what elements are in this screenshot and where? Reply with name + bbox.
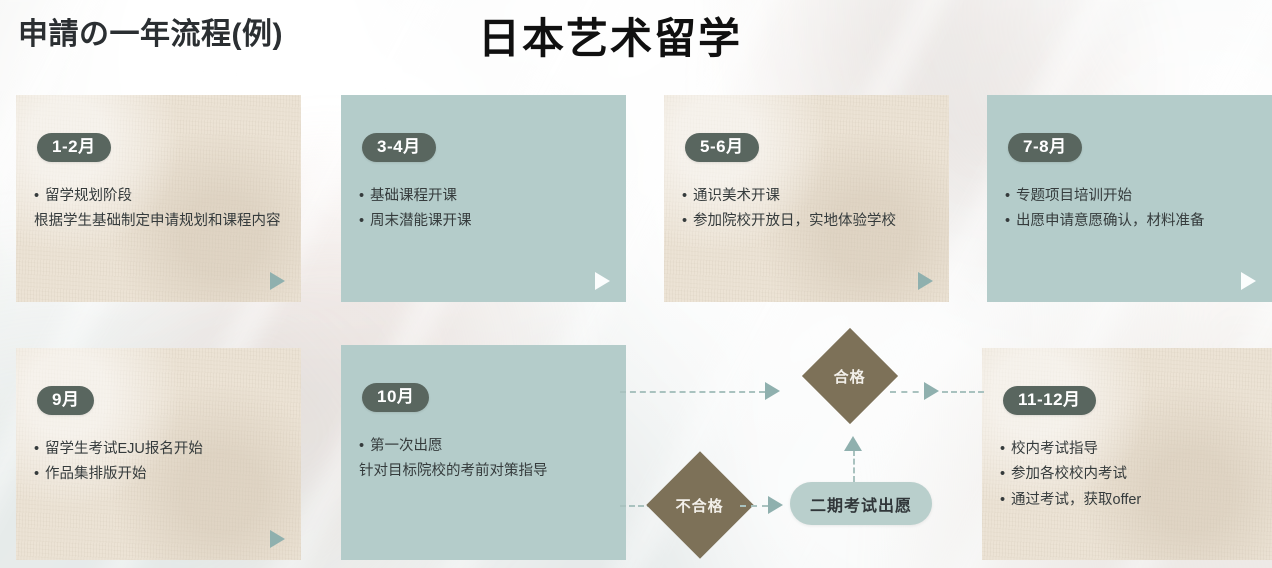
card-month-badge: 5-6月 [685, 133, 759, 162]
card-body: •基础课程开课 •周末潜能课开课 [359, 185, 612, 236]
card-month-badge: 7-8月 [1008, 133, 1082, 162]
timeline-card-5[interactable]: 9月 •留学生考试EJU报名开始 •作品集排版开始 [16, 348, 301, 560]
play-triangle-icon[interactable] [270, 530, 285, 548]
card-line: •作品集排版开始 [34, 463, 287, 486]
timeline-card-6[interactable]: 10月 •第一次出愿 针对目标院校的考前对策指导 [341, 345, 626, 560]
bullet-dot: • [1005, 185, 1016, 208]
bullet-dot: • [34, 438, 45, 461]
bullet-dot: • [34, 185, 45, 208]
timeline-card-1[interactable]: 1-2月 •留学规划阶段 根据学生基础制定申请规划和课程内容 [16, 95, 301, 302]
card-line: •专题项目培训开始 [1005, 185, 1258, 208]
bullet-dot: • [682, 185, 693, 208]
card-line: •参加院校开放日，实地体验学校 [682, 210, 935, 233]
page-subtitle: 申請の一年流程(例) [18, 9, 283, 53]
card-line: •基础课程开课 [359, 185, 612, 208]
flow-connector-second-to-pass [853, 450, 855, 482]
play-triangle-icon[interactable] [595, 272, 610, 290]
card-line: •通过考试，获取offer [1000, 489, 1258, 512]
pass-decision-node[interactable]: 合格 [802, 328, 898, 424]
fail-decision-node[interactable]: 不合格 [646, 451, 753, 558]
card-line: •校内考试指导 [1000, 438, 1258, 461]
timeline-card-2[interactable]: 3-4月 •基础课程开课 •周末潜能课开课 [341, 95, 626, 302]
card-line: •第一次出愿 [359, 435, 612, 458]
bullet-dot: • [359, 435, 370, 458]
card-body: •留学规划阶段 根据学生基础制定申请规划和课程内容 [34, 185, 287, 236]
card-month-badge: 10月 [362, 383, 429, 412]
bullet-dot: • [1000, 463, 1011, 486]
flow-connector-to-card7-tail [942, 391, 984, 393]
card-line: •出愿申请意愿确认，材料准备 [1005, 210, 1258, 233]
bullet-dot: • [1000, 489, 1011, 512]
bullet-dot: • [1000, 438, 1011, 461]
bullet-dot: • [359, 185, 370, 208]
bullet-dot: • [359, 210, 370, 233]
play-triangle-icon[interactable] [918, 272, 933, 290]
card-body: •第一次出愿 针对目标院校的考前对策指导 [359, 435, 612, 486]
arrow-right-icon [765, 382, 780, 400]
bullet-dot: • [682, 210, 693, 233]
fail-label: 不合格 [676, 494, 724, 515]
arrow-right-icon [768, 496, 783, 514]
card-month-badge: 3-4月 [362, 133, 436, 162]
timeline-card-7[interactable]: 11-12月 •校内考试指导 •参加各校校内考试 •通过考试，获取offer [982, 348, 1272, 560]
card-body: •专题项目培训开始 •出愿申请意愿确认，材料准备 [1005, 185, 1258, 236]
card-body: •校内考试指导 •参加各校校内考试 •通过考试，获取offer [1000, 438, 1258, 514]
card-line: 针对目标院校的考前对策指导 [359, 460, 612, 483]
card-line: •留学规划阶段 [34, 185, 287, 208]
flow-connector-fail-to-second [740, 505, 768, 507]
card-line: •周末潜能课开课 [359, 210, 612, 233]
card-line: 根据学生基础制定申请规划和课程内容 [34, 210, 287, 233]
card-month-badge: 9月 [37, 386, 94, 415]
card-body: •留学生考试EJU报名开始 •作品集排版开始 [34, 438, 287, 489]
card-month-badge: 11-12月 [1003, 386, 1096, 415]
card-body: •通识美术开课 •参加院校开放日，实地体验学校 [682, 185, 935, 236]
second-exam-label: 二期考试出愿 [810, 492, 912, 516]
arrow-right-icon [924, 382, 939, 400]
bullet-dot: • [1005, 210, 1016, 233]
card-month-badge: 1-2月 [37, 133, 111, 162]
arrow-up-icon [844, 436, 862, 451]
play-triangle-icon[interactable] [1241, 272, 1256, 290]
pass-label: 合格 [834, 365, 866, 386]
play-triangle-icon[interactable] [270, 272, 285, 290]
card-line: •参加各校校内考试 [1000, 463, 1258, 486]
page-title: 日本艺术留学 [478, 5, 742, 66]
timeline-card-3[interactable]: 5-6月 •通识美术开课 •参加院校开放日，实地体验学校 [664, 95, 949, 302]
card-line: •留学生考试EJU报名开始 [34, 438, 287, 461]
bullet-dot: • [34, 463, 45, 486]
second-exam-node[interactable]: 二期考试出愿 [790, 482, 932, 525]
card-line: •通识美术开课 [682, 185, 935, 208]
flow-connector-to-pass [620, 391, 765, 393]
timeline-card-4[interactable]: 7-8月 •专题项目培训开始 •出愿申请意愿确认，材料准备 [987, 95, 1272, 302]
decision-flow-diagram: 合格 不合格 二期考试出愿 [620, 350, 1000, 550]
